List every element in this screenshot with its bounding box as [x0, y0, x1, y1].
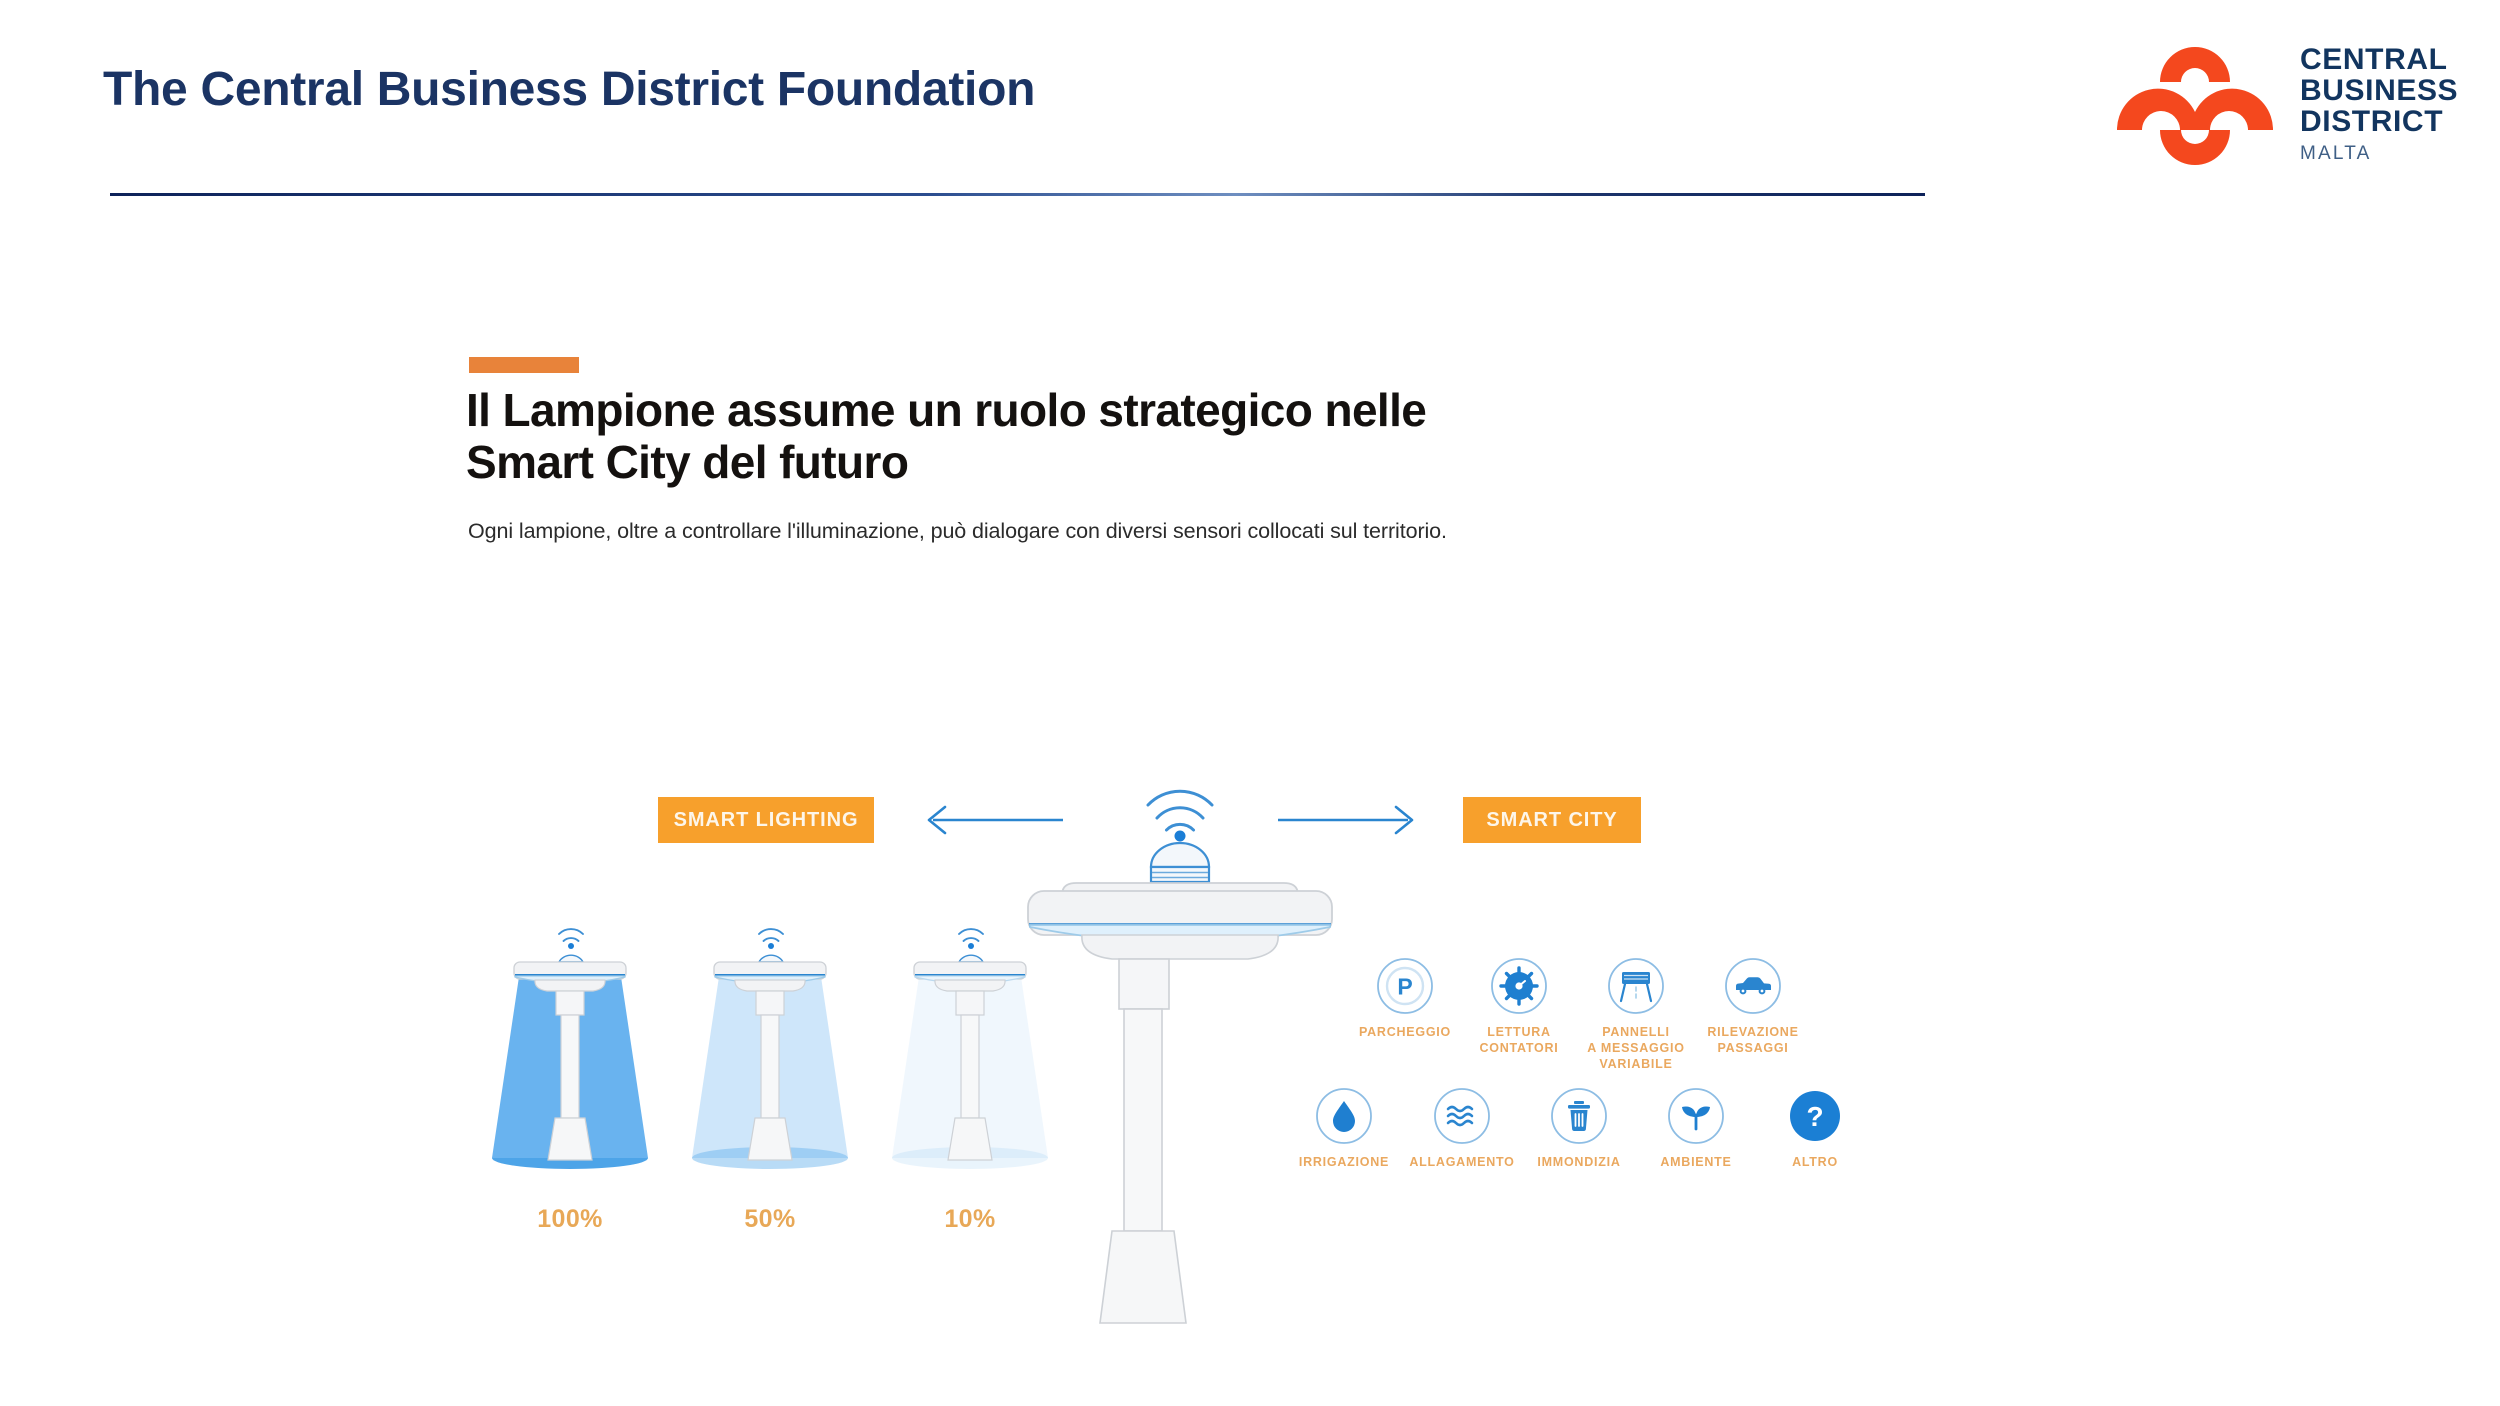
- content-headline: Il Lampione assume un ruolo strategico n…: [466, 385, 1766, 488]
- dimming-lamp-100: [480, 920, 660, 1180]
- page-title: The Central Business District Foundation: [103, 62, 1035, 117]
- label-line-1: LETTURA: [1487, 1025, 1551, 1039]
- variable-message-sign-icon: [1607, 957, 1665, 1015]
- label-line-1: AMBIENTE: [1660, 1155, 1731, 1169]
- dimming-lamp-group: [470, 920, 1090, 1250]
- sensor-altro: ? ALTRO: [1751, 1087, 1879, 1170]
- sensor-allagamento: ALLAGAMENTO: [1398, 1087, 1526, 1170]
- headline-line-1: Il Lampione assume un ruolo strategico n…: [466, 384, 1426, 436]
- trash-bin-icon: [1550, 1087, 1608, 1145]
- sensor-label: AMBIENTE: [1632, 1154, 1760, 1170]
- label-line-1: ALLAGAMENTO: [1409, 1155, 1514, 1169]
- sensor-immondizia: IMMONDIZIA: [1515, 1087, 1643, 1170]
- flood-waves-icon: [1433, 1087, 1491, 1145]
- label-line-2: CONTATORI: [1480, 1041, 1559, 1055]
- sensor-parcheggio: P PARCHEGGIO: [1341, 957, 1469, 1040]
- label-line-3: VARIABILE: [1599, 1057, 1672, 1071]
- sensor-label: LETTURA CONTATORI: [1455, 1024, 1583, 1056]
- sensor-label: IRRIGAZIONE: [1280, 1154, 1408, 1170]
- wifi-antenna-icon: [559, 929, 583, 941]
- wifi-antenna-icon: [959, 929, 983, 941]
- content-subline: Ogni lampione, oltre a controllare l'ill…: [468, 519, 1768, 544]
- headline-line-2: Smart City del futuro: [466, 436, 908, 488]
- dimming-label-100: 100%: [480, 1205, 660, 1234]
- label-line-1: PANNELLI: [1602, 1025, 1670, 1039]
- sensor-rilevazione-passaggi: RILEVAZIONE PASSAGGI: [1689, 957, 1817, 1056]
- header-divider: [110, 193, 1925, 196]
- label-line-1: ALTRO: [1792, 1155, 1838, 1169]
- meter-reading-icon: [1490, 957, 1548, 1015]
- sensor-irrigazione: IRRIGAZIONE: [1280, 1087, 1408, 1170]
- label-line-1: IRRIGAZIONE: [1299, 1155, 1389, 1169]
- badge-smart-lighting: SMART LIGHTING: [658, 797, 874, 843]
- badge-smart-city: SMART CITY: [1463, 797, 1641, 843]
- cbd-logo-text: CENTRAL BUSINESS DISTRICT MALTA: [2300, 44, 2458, 163]
- dimming-label-50: 50%: [680, 1205, 860, 1234]
- plant-leaf-icon: [1667, 1087, 1725, 1145]
- sensor-ambiente: AMBIENTE: [1632, 1087, 1760, 1170]
- sensor-icon-grid: P PARCHEGGIO: [1285, 957, 1905, 1247]
- question-mark-icon: ?: [1786, 1087, 1844, 1145]
- dimming-label-10: 10%: [880, 1205, 1060, 1234]
- dimming-lamp-50: [680, 920, 860, 1180]
- slide-content: Il Lampione assume un ruolo strategico n…: [0, 205, 2500, 1406]
- svg-text:P: P: [1397, 974, 1412, 1000]
- logo-line-district: DISTRICT: [2300, 106, 2458, 137]
- sensor-label: PANNELLI A MESSAGGIO VARIABILE: [1572, 1024, 1700, 1072]
- water-drop-icon: [1315, 1087, 1373, 1145]
- logo-line-central: CENTRAL: [2300, 44, 2458, 75]
- sensor-label: IMMONDIZIA: [1515, 1154, 1643, 1170]
- cbd-logo: CENTRAL BUSINESS DISTRICT MALTA: [2115, 26, 2455, 171]
- dimming-lamp-10: [880, 920, 1060, 1180]
- wifi-antenna-icon: [1148, 791, 1212, 830]
- parking-icon: P: [1376, 957, 1434, 1015]
- logo-line-malta: MALTA: [2300, 144, 2458, 164]
- cbd-logo-mark: [2115, 26, 2275, 174]
- accent-bar: [469, 357, 579, 373]
- logo-line-business: BUSINESS: [2300, 75, 2458, 106]
- sensor-pannelli-messaggio: PANNELLI A MESSAGGIO VARIABILE: [1572, 957, 1700, 1072]
- dimming-label-row: 100% 50% 10%: [470, 1205, 1110, 1249]
- label-line-1: RILEVAZIONE: [1707, 1025, 1798, 1039]
- sensor-lettura-contatori: LETTURA CONTATORI: [1455, 957, 1583, 1056]
- label-line-1: IMMONDIZIA: [1537, 1155, 1620, 1169]
- sensor-label: ALLAGAMENTO: [1398, 1154, 1526, 1170]
- vehicle-detection-icon: [1724, 957, 1782, 1015]
- label-line-1: PARCHEGGIO: [1359, 1025, 1451, 1039]
- sensor-label: RILEVAZIONE PASSAGGI: [1689, 1024, 1817, 1056]
- label-line-2: A MESSAGGIO: [1587, 1041, 1684, 1055]
- label-line-2: PASSAGGI: [1717, 1041, 1788, 1055]
- svg-text:?: ?: [1806, 1101, 1823, 1132]
- sensor-label: ALTRO: [1751, 1154, 1879, 1170]
- sensor-label: PARCHEGGIO: [1341, 1024, 1469, 1040]
- wifi-antenna-icon: [759, 929, 783, 941]
